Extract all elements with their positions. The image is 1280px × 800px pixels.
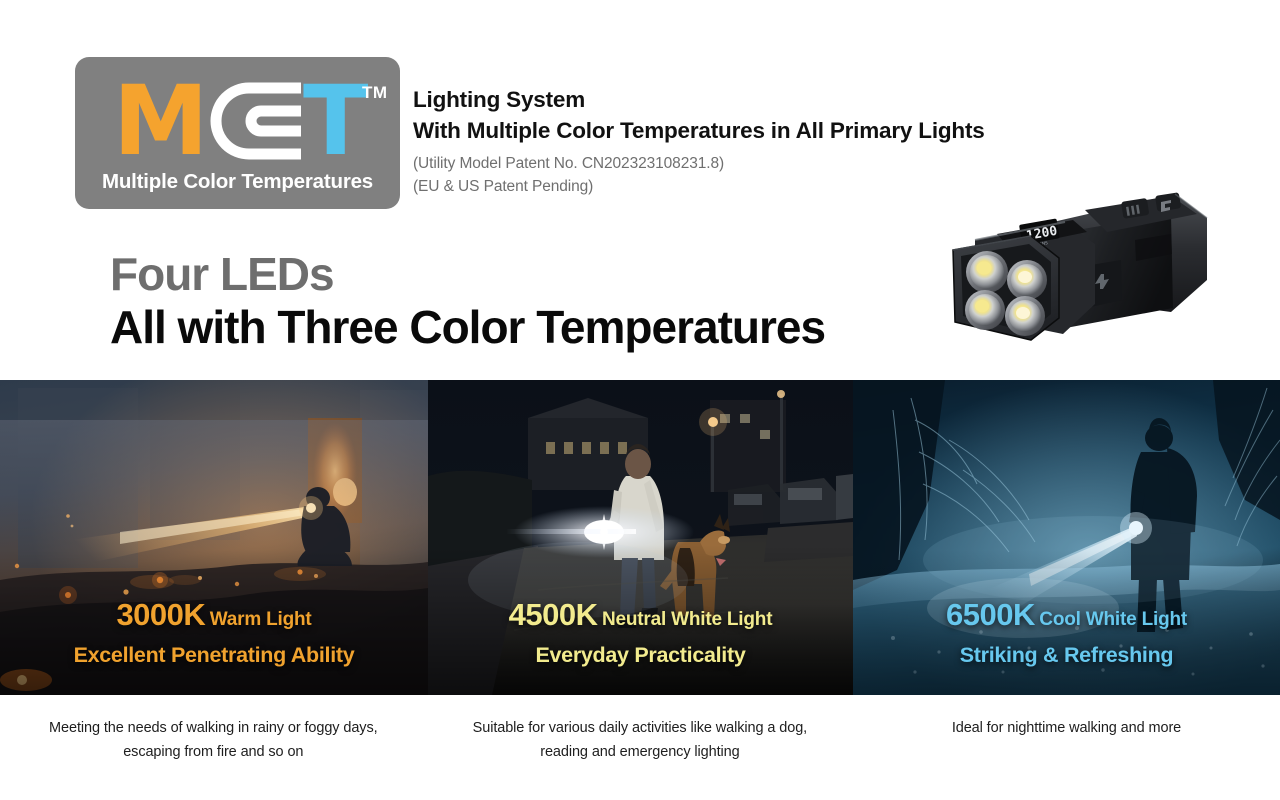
logo-letter-t: T: [303, 77, 368, 165]
kelvin-cool: 6500K: [946, 597, 1035, 632]
headline-line2: All with Three Color Temperatures: [110, 300, 825, 355]
caption-neutral: 4500K Neutral White Light Everyday Pract…: [428, 598, 853, 675]
footer-caption-warm-line2: escaping from fire and so on: [0, 740, 427, 764]
kelvin-warm: 3000K: [116, 597, 205, 632]
header-title-line2: With Multiple Color Temperatures in All …: [413, 115, 1133, 146]
patent-number-line: (Utility Model Patent No. CN202323108231…: [413, 152, 1133, 175]
light-name-neutral: Neutral White Light: [602, 609, 772, 630]
product-flashlight-image: 1200 LUMENS: [935, 188, 1210, 378]
kelvin-neutral: 4500K: [509, 597, 598, 632]
footer-caption-neutral-line1: Suitable for various daily activities li…: [427, 716, 854, 740]
color-temperature-panels: 3000K Warm Light Excellent Penetrating A…: [0, 380, 1280, 695]
headline-line1: Four LEDs: [110, 248, 825, 300]
tagline-neutral: Everyday Practicality: [535, 643, 745, 667]
footer-caption-cool-line1: Ideal for nighttime walking and more: [853, 716, 1280, 740]
footer-captions: Meeting the needs of walking in rainy or…: [0, 700, 1280, 800]
tagline-warm: Excellent Penetrating Ability: [74, 643, 355, 667]
panel-cool-6500k[interactable]: 6500K Cool White Light Striking & Refres…: [853, 380, 1280, 695]
light-name-warm: Warm Light: [210, 609, 312, 630]
header-title-line1: Lighting System: [413, 84, 1133, 115]
footer-caption-warm: Meeting the needs of walking in rainy or…: [0, 700, 427, 800]
flashlight-illustration: 1200 LUMENS: [935, 188, 1210, 378]
logo-letter-m: M: [113, 77, 207, 165]
panel-warm-3000k[interactable]: 3000K Warm Light Excellent Penetrating A…: [0, 380, 428, 695]
led-top-left: [966, 251, 1008, 293]
panel-neutral-4500k[interactable]: 4500K Neutral White Light Everyday Pract…: [428, 380, 853, 695]
led-bottom-right: [1005, 296, 1045, 336]
main-headline: Four LEDs All with Three Color Temperatu…: [110, 248, 825, 355]
light-name-cool: Cool White Light: [1039, 609, 1187, 630]
footer-caption-neutral: Suitable for various daily activities li…: [427, 700, 854, 800]
trademark-symbol: TM: [362, 83, 388, 103]
mct-logo-lettermark: M T TM: [75, 77, 400, 165]
led-top-right: [1007, 260, 1047, 300]
mct-logo-badge: M T TM Multiple Color Temperatures: [75, 57, 400, 209]
logo-subtitle: Multiple Color Temperatures: [75, 170, 400, 194]
footer-caption-warm-line1: Meeting the needs of walking in rainy or…: [0, 716, 427, 740]
footer-caption-neutral-line2: reading and emergency lighting: [427, 740, 854, 764]
footer-caption-cool: Ideal for nighttime walking and more: [853, 700, 1280, 800]
logo-double-c-icon: [205, 80, 310, 162]
tagline-cool: Striking & Refreshing: [960, 643, 1174, 667]
led-bottom-left: [965, 290, 1005, 330]
caption-cool: 6500K Cool White Light Striking & Refres…: [853, 598, 1280, 675]
header-section: M T TM Multiple Color Temperatures Light…: [0, 0, 1280, 380]
header-text-block: Lighting System With Multiple Color Temp…: [413, 84, 1133, 198]
caption-warm: 3000K Warm Light Excellent Penetrating A…: [0, 598, 428, 675]
